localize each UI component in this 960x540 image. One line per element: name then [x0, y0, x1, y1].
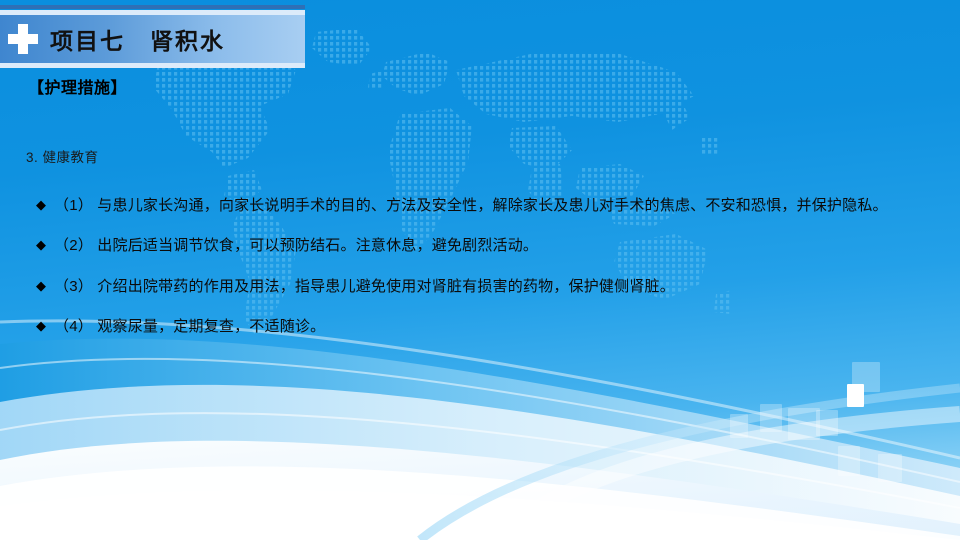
- medical-cross-icon: [8, 24, 38, 54]
- bullet-item-1: ◆ （1） 与患儿家长沟通，向家长说明手术的目的、方法及安全性，解除家长及患儿对…: [26, 194, 926, 217]
- bullet-text-3: （3） 介绍出院带药的作用及用法，指导患儿避免使用对肾脏有损害的药物，保护健侧肾…: [54, 275, 675, 298]
- slide-title: 项目七 肾积水: [50, 22, 225, 56]
- glass-squares-decoration: [730, 360, 960, 540]
- bullet-item-4: ◆ （4） 观察尿量，定期复查，不适随诊。: [26, 315, 926, 338]
- bullet-item-3: ◆ （3） 介绍出院带药的作用及用法，指导患儿避免使用对肾脏有损害的药物，保护健…: [26, 275, 926, 298]
- bullet-item-2: ◆ （2） 出院后适当调节饮食，可以预防结石。注意休息，避免剧烈活动。: [26, 234, 926, 257]
- content-subheading: 3. 健康教育: [26, 146, 926, 166]
- bullet-text-2: （2） 出院后适当调节饮食，可以预防结石。注意休息，避免剧烈活动。: [54, 234, 538, 257]
- diamond-bullet-icon: ◆: [36, 316, 46, 336]
- presentation-slide: 项目七 肾积水 【护理措施】 3. 健康教育 ◆ （1） 与患儿家长沟通，向家长…: [0, 0, 960, 540]
- diamond-bullet-icon: ◆: [36, 195, 46, 215]
- bullet-text-1: （1） 与患儿家长沟通，向家长说明手术的目的、方法及安全性，解除家长及患儿对手术…: [54, 194, 888, 217]
- diamond-bullet-icon: ◆: [36, 235, 46, 255]
- bullet-text-4: （4） 观察尿量，定期复查，不适随诊。: [54, 315, 325, 338]
- slide-title-banner: 项目七 肾积水: [0, 10, 305, 68]
- section-label: 【护理措施】: [28, 74, 127, 98]
- slide-content: 3. 健康教育 ◆ （1） 与患儿家长沟通，向家长说明手术的目的、方法及安全性，…: [26, 146, 926, 355]
- diamond-bullet-icon: ◆: [36, 276, 46, 296]
